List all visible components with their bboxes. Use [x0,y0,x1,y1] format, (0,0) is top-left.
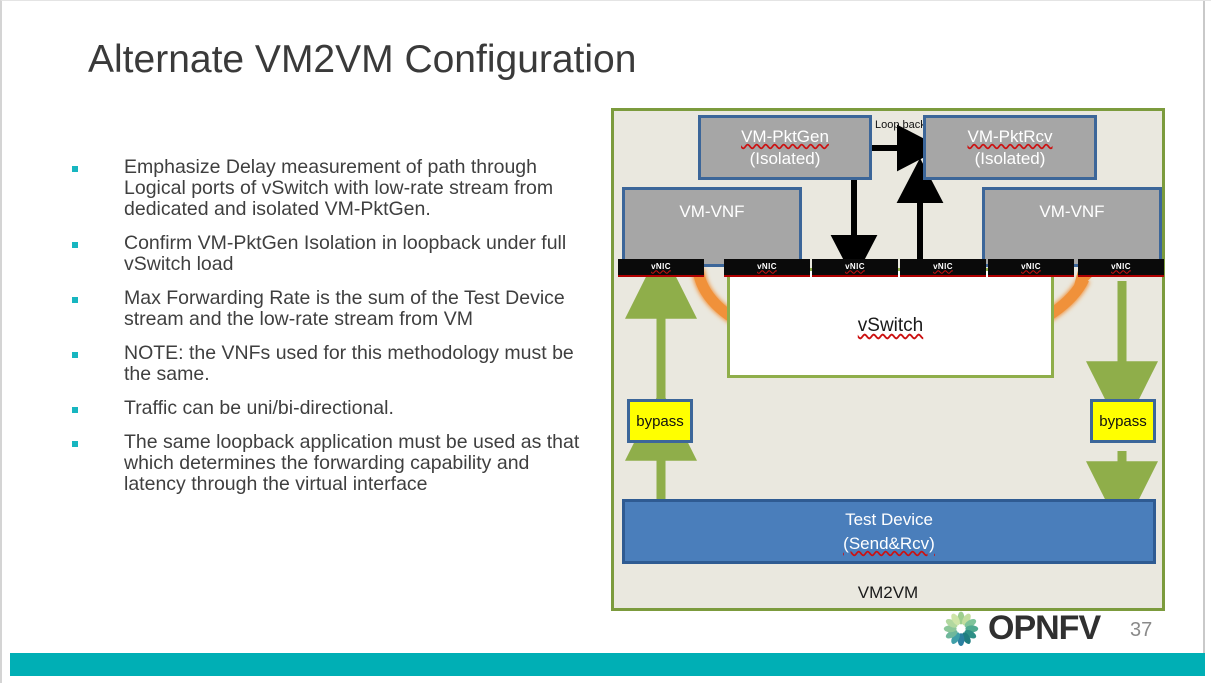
bullet-text: Confirm VM-PktGen Isolation in loopback … [124,233,596,275]
vnic-label: vNIC [1111,262,1131,271]
vswitch-panel: vSwitch [727,268,1054,378]
bullet-marker-icon [72,242,78,248]
vnic-label: vNIC [845,262,865,271]
page-number: 37 [1130,619,1152,642]
bypass-left-label: bypass [636,413,684,430]
vm2vm-caption: VM2VM [614,583,1162,603]
slide-right-edge [1203,1,1205,653]
vnic-2: vNIC [724,259,810,277]
vnic-6: vNIC [1078,259,1164,277]
list-item: Emphasize Delay measurement of path thro… [66,157,596,220]
vnic-1: vNIC [618,259,704,277]
bullet-list: Emphasize Delay measurement of path thro… [66,157,596,508]
vm-vnf-right-box: VM-VNF [982,187,1162,267]
opnfv-wordmark: OPNFV [988,609,1100,648]
bullet-marker-icon [72,166,78,172]
vnic-4: vNIC [900,259,986,277]
vnic-label: vNIC [651,262,671,271]
vm-vnf-right-label: VM-VNF [1039,202,1104,222]
vnic-label: vNIC [933,262,953,271]
vm-pktrcv-label-line2: (Isolated) [975,148,1046,170]
list-item: Max Forwarding Rate is the sum of the Te… [66,288,596,330]
slide-canvas: Alternate VM2VM Configuration Emphasize … [0,0,1211,683]
bullet-marker-icon [72,297,78,303]
bullet-text: Emphasize Delay measurement of path thro… [124,157,596,220]
vswitch-label: vSwitch [730,315,1051,337]
bypass-left-box: bypass [627,399,693,443]
list-item: Traffic can be uni/bi-directional. [66,398,596,419]
vm-pktgen-label-line1: VM-PktGen [741,126,829,148]
list-item: NOTE: the VNFs used for this methodology… [66,343,596,385]
vm-pktrcv-box: VM-PktRcv (Isolated) [923,115,1097,180]
vm-pktgen-label-line2: (Isolated) [750,148,821,170]
list-item: The same loopback application must be us… [66,432,596,495]
test-device-box: Test Device (Send&Rcv) [622,499,1156,564]
footer-logo: OPNFV 37 [940,606,1180,651]
vm2vm-diagram: VM-PktGen (Isolated) Loop back VM-PktRcv… [611,108,1165,611]
vnic-5: vNIC [988,259,1074,277]
bullet-text: Max Forwarding Rate is the sum of the Te… [124,288,596,330]
page-title: Alternate VM2VM Configuration [88,38,636,82]
list-item: Confirm VM-PktGen Isolation in loopback … [66,233,596,275]
bullet-marker-icon [72,352,78,358]
test-device-label-line1: Test Device [845,508,933,532]
bullet-text: The same loopback application must be us… [124,432,596,495]
opnfv-petal-logo-icon [940,608,982,648]
vm-vnf-left-box: VM-VNF [622,187,802,267]
test-device-label-line2: (Send&Rcv) [843,532,935,556]
vm-pktrcv-label-line1: VM-PktRcv [968,126,1053,148]
loopback-label: Loop back [875,119,926,131]
bullet-text: Traffic can be uni/bi-directional. [124,398,596,419]
bullet-marker-icon [72,441,78,447]
vnic-3: vNIC [812,259,898,277]
bullet-text: NOTE: the VNFs used for this methodology… [124,343,596,385]
bullet-marker-icon [72,407,78,413]
vm-vnf-left-label: VM-VNF [679,202,744,222]
vm-pktgen-box: VM-PktGen (Isolated) [698,115,872,180]
bypass-right-label: bypass [1099,413,1147,430]
footer-accent-bar [10,653,1205,676]
vnic-label: vNIC [1021,262,1041,271]
vnic-label: vNIC [757,262,777,271]
bypass-right-box: bypass [1090,399,1156,443]
